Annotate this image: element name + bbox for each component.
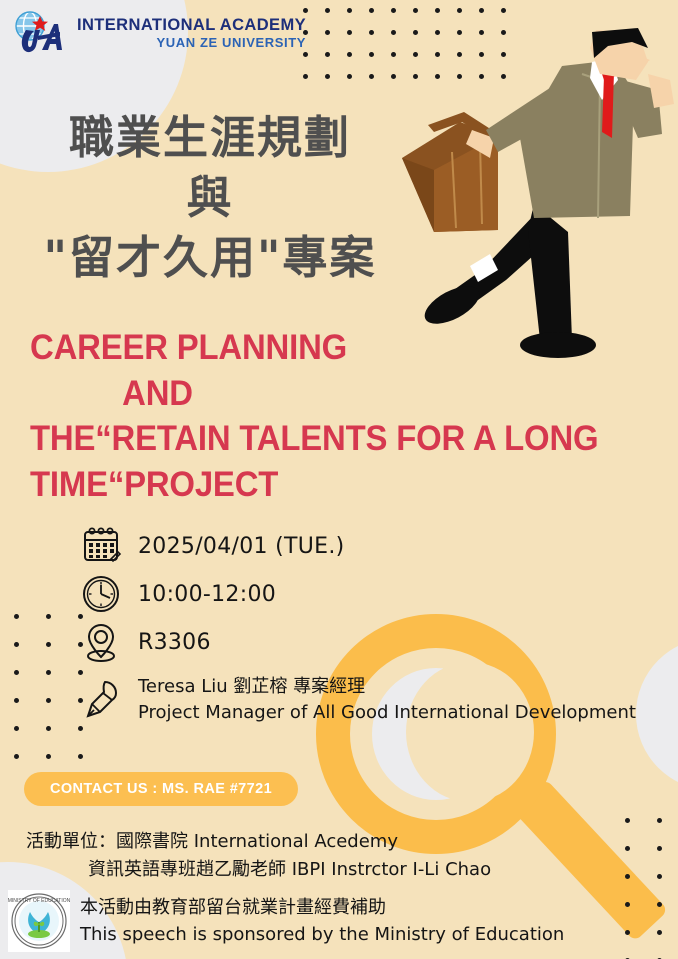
dot bbox=[657, 846, 662, 851]
sponsor-text: 本活動由教育部留台就業計畫經費補助 This speech is sponsor… bbox=[80, 894, 564, 948]
dot bbox=[391, 8, 396, 13]
dot bbox=[46, 642, 51, 647]
title-english-line-2: AND bbox=[30, 371, 632, 417]
brand-line-1: INTERNATIONAL ACADEMY bbox=[77, 17, 306, 34]
calendar-icon bbox=[78, 523, 124, 569]
dot bbox=[347, 8, 352, 13]
dot bbox=[325, 52, 330, 57]
dot bbox=[479, 8, 484, 13]
speaker-name: Teresa Liu 劉芷榕 專案經理 bbox=[138, 674, 636, 700]
dot bbox=[625, 930, 630, 935]
location-pin-icon bbox=[78, 619, 124, 665]
dot bbox=[14, 670, 19, 675]
event-location: R3306 bbox=[138, 630, 211, 655]
dot bbox=[501, 8, 506, 13]
dot bbox=[78, 754, 83, 759]
dot-row bbox=[625, 902, 678, 930]
dot bbox=[369, 8, 374, 13]
dot bbox=[625, 846, 630, 851]
dot bbox=[413, 8, 418, 13]
dot-row bbox=[625, 930, 678, 958]
organizer-line-1: 活動單位：國際書院 International Acedemy bbox=[26, 828, 491, 856]
dot-row bbox=[14, 726, 110, 754]
ministry-of-education-seal-icon: MINISTRY OF EDUCATION bbox=[8, 890, 70, 952]
event-time: 10:00-12:00 bbox=[138, 582, 276, 607]
dot bbox=[46, 726, 51, 731]
dot bbox=[78, 726, 83, 731]
svg-text:MINISTRY OF EDUCATION: MINISTRY OF EDUCATION bbox=[8, 898, 70, 904]
organizer-line-2: 資訊英語專班趙乙勵老師 IBPI Instrctor I-Li Chao bbox=[26, 856, 491, 884]
speaker-title: Project Manager of All Good Internationa… bbox=[138, 700, 636, 726]
title-chinese-line-1: 職業生涯規劃 bbox=[0, 108, 420, 168]
dot bbox=[369, 52, 374, 57]
dot bbox=[369, 30, 374, 35]
detail-row-location: R3306 bbox=[78, 618, 636, 666]
dot bbox=[325, 8, 330, 13]
dot bbox=[625, 818, 630, 823]
dot bbox=[625, 902, 630, 907]
dot bbox=[46, 698, 51, 703]
dot-row bbox=[625, 818, 678, 846]
title-chinese-line-3: "留才久用"專案 bbox=[0, 228, 420, 288]
dot bbox=[14, 726, 19, 731]
dot bbox=[325, 74, 330, 79]
detail-row-date: 2025/04/01 (TUE.) bbox=[78, 522, 636, 570]
dot bbox=[46, 614, 51, 619]
dot bbox=[457, 8, 462, 13]
dot-grid-right bbox=[625, 818, 678, 959]
dot bbox=[657, 930, 662, 935]
dot-row bbox=[625, 874, 678, 902]
dot bbox=[303, 74, 308, 79]
dot bbox=[347, 52, 352, 57]
dot bbox=[435, 8, 440, 13]
dot bbox=[46, 754, 51, 759]
title-english-line-4: TIME“PROJECT bbox=[30, 462, 632, 508]
sponsor-info: MINISTRY OF EDUCATION 本活動由教育部留台就業計畫經費補助 … bbox=[8, 890, 564, 952]
event-details: 2025/04/01 (TUE.) 10:00-12:00 bbox=[78, 522, 636, 726]
sponsor-line-en: This speech is sponsored by the Ministry… bbox=[80, 921, 564, 948]
dot bbox=[347, 30, 352, 35]
dot bbox=[625, 874, 630, 879]
poster-canvas: INTERNATIONAL ACADEMY YUAN ZE UNIVERSITY… bbox=[0, 0, 678, 959]
speaker-info: Teresa Liu 劉芷榕 專案經理 Project Manager of A… bbox=[138, 674, 636, 726]
organizer-info: 活動單位：國際書院 International Acedemy 資訊英語專班趙乙… bbox=[26, 828, 491, 884]
dot bbox=[657, 818, 662, 823]
dot bbox=[369, 74, 374, 79]
clock-icon bbox=[78, 571, 124, 617]
dot-row bbox=[625, 846, 678, 874]
contact-badge[interactable]: CONTACT US : MS. RAE #7721 bbox=[24, 772, 298, 806]
dot bbox=[14, 754, 19, 759]
title-chinese: 職業生涯規劃 與 "留才久用"專案 bbox=[0, 108, 420, 288]
title-english-line-1: CAREER PLANNING bbox=[30, 325, 632, 371]
detail-row-time: 10:00-12:00 bbox=[78, 570, 636, 618]
dot bbox=[347, 74, 352, 79]
dot bbox=[14, 698, 19, 703]
brand-line-2: YUAN ZE UNIVERSITY bbox=[77, 36, 306, 50]
title-english-line-3: THE“RETAIN TALENTS FOR A LONG bbox=[30, 416, 632, 462]
dot bbox=[657, 902, 662, 907]
dot bbox=[14, 614, 19, 619]
dot bbox=[14, 642, 19, 647]
title-chinese-line-2: 與 bbox=[0, 168, 420, 228]
detail-row-speaker: Teresa Liu 劉芷榕 專案經理 Project Manager of A… bbox=[78, 674, 636, 726]
dot bbox=[46, 670, 51, 675]
sponsor-line-zh: 本活動由教育部留台就業計畫經費補助 bbox=[80, 894, 564, 921]
dot bbox=[325, 30, 330, 35]
brand-header: INTERNATIONAL ACADEMY YUAN ZE UNIVERSITY bbox=[8, 10, 306, 56]
running-businessman-illustration bbox=[386, 18, 678, 370]
international-academy-logo-icon bbox=[8, 10, 70, 56]
microphone-icon bbox=[78, 676, 124, 722]
event-date: 2025/04/01 (TUE.) bbox=[138, 534, 345, 559]
dot bbox=[657, 874, 662, 879]
title-english: CAREER PLANNING AND THE“RETAIN TALENTS F… bbox=[30, 325, 632, 507]
brand-name: INTERNATIONAL ACADEMY YUAN ZE UNIVERSITY bbox=[77, 17, 306, 50]
